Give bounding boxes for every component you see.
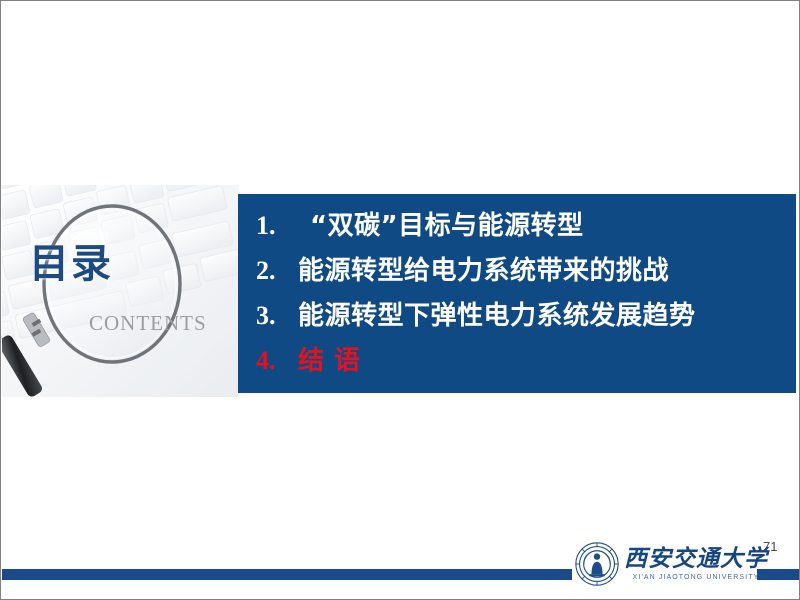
slide: 目录 CONTENTS 1. “双碳”目标与能源转型 2. 能源转型给电力系统带… (0, 0, 800, 600)
list-item[interactable]: 1. “双碳”目标与能源转型 (256, 205, 790, 250)
contents-panel: 1. “双碳”目标与能源转型 2. 能源转型给电力系统带来的挑战 3. 能源转型… (238, 194, 796, 393)
logo-name-en: XI'AN JIAOTONG UNIVERSITY (624, 574, 768, 581)
keyboard-magnifier-illustration (2, 185, 239, 397)
logo-wordmark: 西安交通大学 XI'AN JIAOTONG UNIVERSITY (624, 547, 768, 580)
xjtu-seal-icon (574, 541, 620, 587)
university-logo: 西安交通大学 XI'AN JIAOTONG UNIVERSITY (574, 538, 764, 590)
list-item-number: 1. (256, 211, 298, 241)
list-item-number: 2. (256, 256, 298, 286)
list-item[interactable]: 2. 能源转型给电力系统带来的挑战 (256, 250, 790, 295)
page-title: 目录 (29, 244, 113, 284)
list-item[interactable]: 3. 能源转型下弹性电力系统发展趋势 (256, 295, 790, 340)
footer-divider-left (2, 569, 572, 580)
list-item-active[interactable]: 4. 结 语 (256, 340, 790, 385)
list-item-label: “双碳”目标与能源转型 (298, 205, 584, 242)
list-item-number: 3. (256, 301, 298, 331)
logo-name-cn: 西安交通大学 (624, 547, 768, 571)
list-item-label: 结 语 (298, 340, 361, 377)
list-item-number: 4. (256, 346, 298, 376)
contents-list: 1. “双碳”目标与能源转型 2. 能源转型给电力系统带来的挑战 3. 能源转型… (256, 205, 790, 385)
list-item-label: 能源转型下弹性电力系统发展趋势 (298, 295, 696, 332)
cover-image (2, 185, 239, 397)
page-subtitle: CONTENTS (89, 311, 207, 336)
list-item-label: 能源转型给电力系统带来的挑战 (298, 250, 669, 287)
